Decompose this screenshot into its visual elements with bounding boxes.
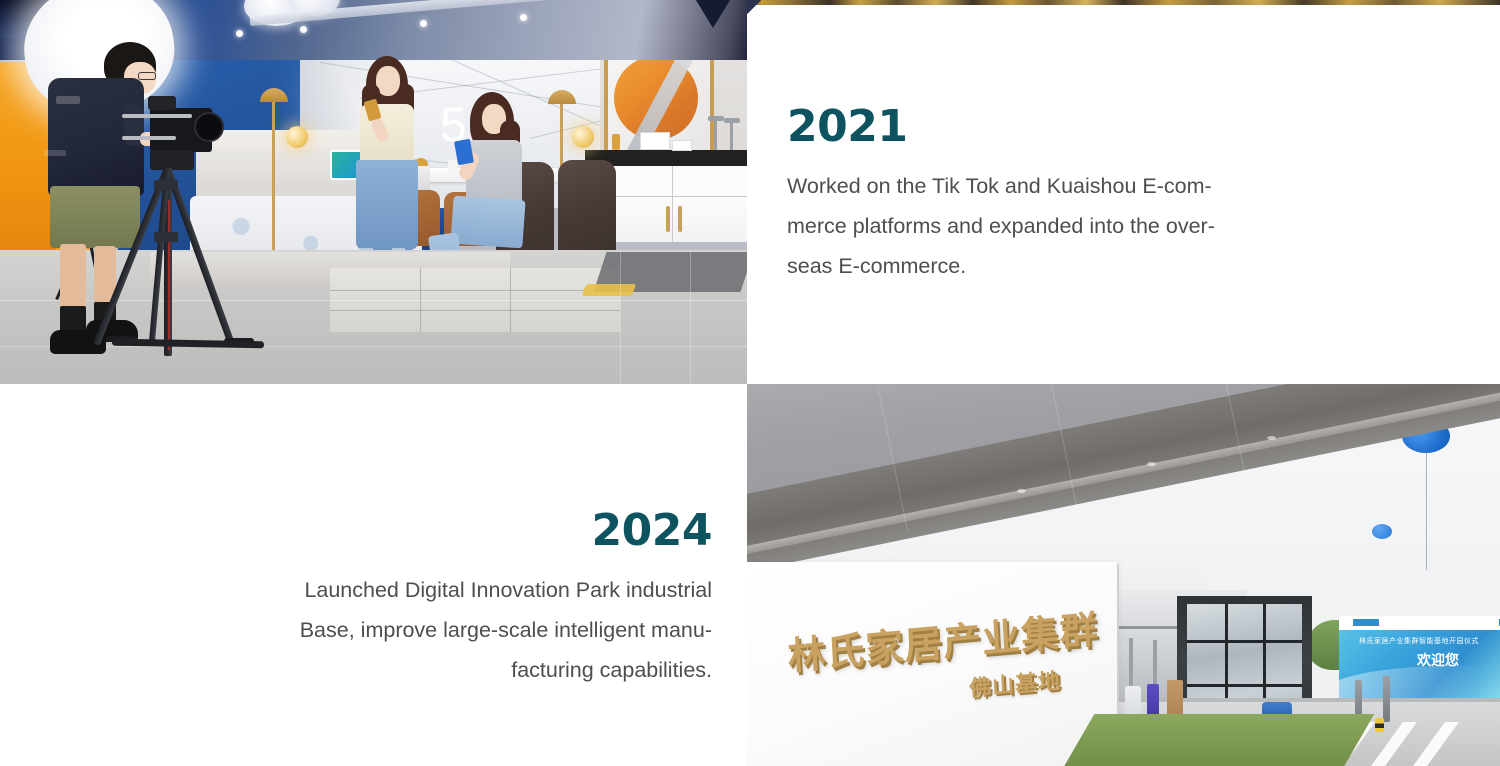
milestone-2021-description: Worked on the Tik Tok and Kuaishou E-com…	[787, 166, 1357, 286]
banner-line-1: 林氏家居产业集群智能基地开园仪式	[1359, 636, 1479, 646]
cropped-image-corner	[747, 0, 761, 14]
milestone-2021-year: 2021	[787, 104, 1357, 150]
blue-balloon-small	[1372, 524, 1392, 539]
industrial-park-photo: 林氏家居产业集群智能基地开园仪式 欢迎您	[747, 384, 1500, 766]
shirt-print	[56, 96, 80, 104]
tripod-clamp	[154, 232, 178, 242]
camera-viewfinder	[148, 96, 176, 110]
milestone-2024-line-2: Base, improve large-scale intelligent ma…	[140, 610, 712, 650]
milestone-2021: 2021 Worked on the Tik Tok and Kuaishou …	[787, 104, 1357, 286]
milestone-2024-line-1: Launched Digital Innovation Park industr…	[140, 570, 712, 610]
lawn	[1060, 714, 1375, 766]
welcome-banner: 林氏家居产业集群智能基地开园仪式 欢迎您	[1339, 616, 1500, 704]
banner-line-2: 欢迎您	[1417, 650, 1459, 670]
milestone-2024-year: 2024	[140, 508, 712, 554]
bollard	[1375, 718, 1384, 732]
timeline-page: 5	[0, 0, 1500, 766]
cropped-image-strip	[747, 0, 1500, 5]
floor-yellow-marker	[582, 284, 637, 296]
camera-plate	[150, 150, 194, 170]
camera-rail	[122, 114, 192, 118]
woman-seated-jeans	[450, 196, 525, 249]
milestone-2021-line-3: seas E-commerce.	[787, 246, 1357, 286]
cameraman-leg	[60, 244, 86, 310]
sideboard-ornament	[612, 134, 620, 150]
milestone-2021-line-1: Worked on the Tik Tok and Kuaishou E-com…	[787, 166, 1357, 206]
milestone-2024: 2024 Launched Digital Innovation Park in…	[140, 508, 712, 690]
tripod-clamp	[154, 180, 178, 190]
milestone-2024-description: Launched Digital Innovation Park industr…	[140, 570, 712, 690]
globe-lamp	[572, 126, 594, 148]
ceiling-chevron-sign	[691, 0, 735, 28]
livestream-showroom-photo: 5	[0, 0, 747, 384]
camera-lens	[194, 112, 224, 142]
globe-lamp	[286, 126, 308, 148]
milestone-2024-line-3: facturing capabilities.	[140, 650, 712, 690]
woman-standing-skirt	[356, 160, 418, 250]
floor-lamp-pole	[272, 92, 275, 252]
milestone-2021-line-2: merce platforms and expanded into the ov…	[787, 206, 1357, 246]
cameraman-shorts	[50, 186, 140, 248]
sideboard-box	[640, 132, 670, 150]
glasses-icon	[138, 72, 156, 80]
camera-rail	[122, 136, 176, 140]
balloon-string	[1426, 450, 1427, 570]
